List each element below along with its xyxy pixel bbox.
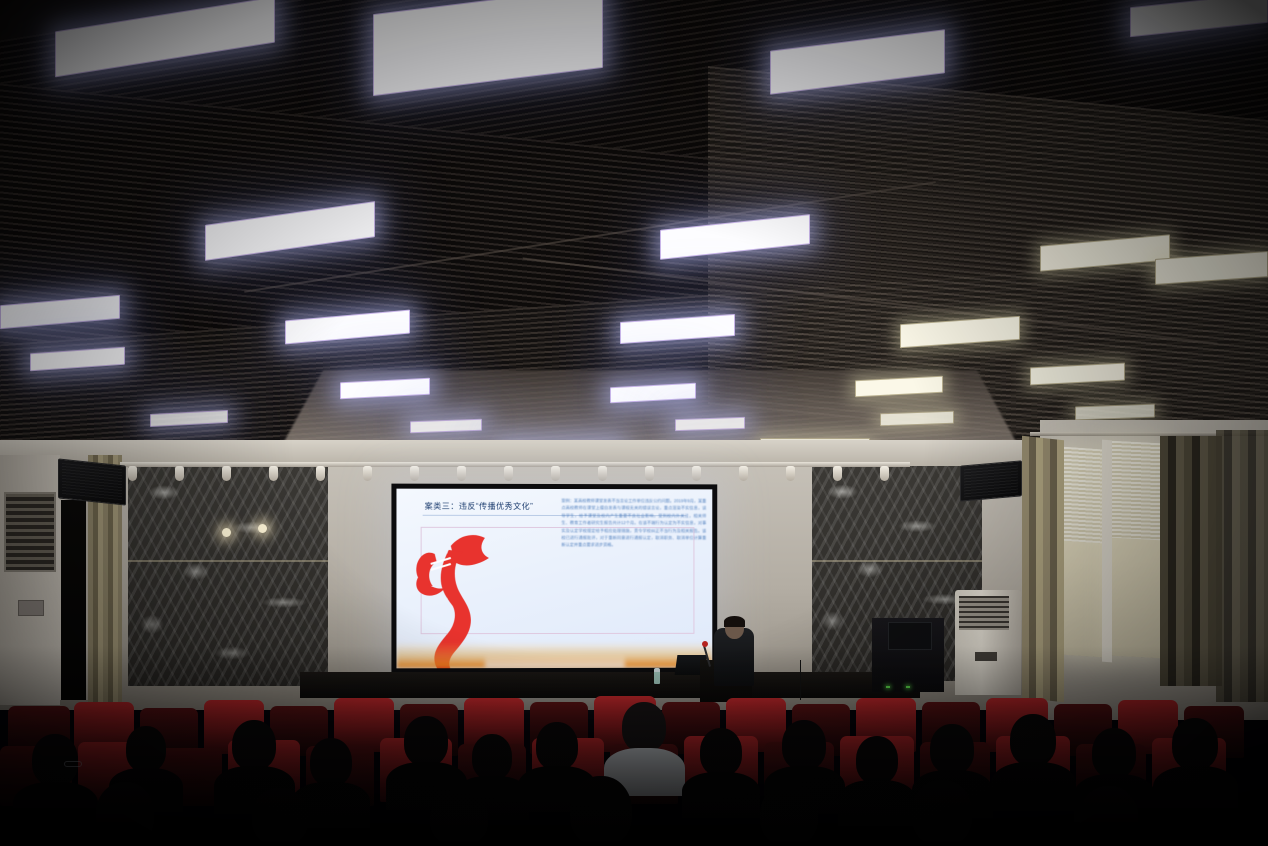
audience-member-head (232, 720, 276, 770)
eyeglasses-icon (64, 761, 82, 767)
curtain-left-panel[interactable] (1022, 436, 1064, 702)
window-pane-2 (1112, 441, 1160, 659)
track-light-16 (833, 466, 842, 481)
audience-member-shoulders (228, 842, 332, 846)
track-light-9 (504, 466, 513, 481)
audience-member-shoulders (1153, 766, 1238, 815)
audience-member-head (856, 736, 898, 784)
track-light-5 (316, 466, 325, 481)
audience-member-shoulders (406, 842, 513, 846)
window-pane-1 (1062, 447, 1102, 658)
side-doorway[interactable] (58, 500, 88, 700)
audience-member-head (700, 728, 742, 776)
projection-screen-frame: 案类三：违反“传播优秀文化” 案例：某高校教师课堂发表不当言论工作单位违反公约问… (391, 484, 717, 679)
track-light-3 (222, 466, 231, 481)
audience-member-head (622, 702, 666, 752)
audience-member-shoulders (887, 842, 998, 846)
ceiling-light-panel-20 (675, 417, 745, 431)
spotlight-glow-left (222, 528, 231, 537)
audience-member-head (472, 734, 512, 780)
audience-member-head (252, 788, 308, 846)
left-marble-panel (128, 466, 328, 686)
track-light-14 (739, 466, 748, 481)
track-light-13 (692, 466, 701, 481)
track-light-7 (410, 466, 419, 481)
projection-screen: 案类三：违反“传播优秀文化” 案例：某高校教师课堂发表不当言论工作单位违反公约问… (396, 489, 712, 669)
audience-member-shoulders (682, 772, 760, 818)
wall-speaker-left (58, 458, 126, 505)
ac-vent-icon (959, 596, 1009, 630)
audience-member-head (536, 722, 578, 770)
track-light-11 (598, 466, 607, 481)
curtain-right-panel[interactable] (1160, 436, 1222, 686)
audience-member-head (570, 776, 632, 846)
audience-member-shoulders (838, 780, 916, 826)
audience-member-head (430, 790, 488, 846)
audience-member-head (1010, 714, 1056, 766)
right-marble-trim (812, 560, 982, 562)
track-light-17 (880, 466, 889, 481)
spotlight-glow-right (258, 524, 267, 533)
audience-member-head (782, 720, 826, 770)
audience-member-head (912, 780, 972, 846)
ac-control-panel[interactable] (975, 652, 997, 661)
window-mullion (1102, 440, 1112, 663)
slide-title: 案类三：违反“传播优秀文化” (425, 501, 534, 512)
audience-member-head (310, 738, 352, 786)
audience-member-head (1080, 786, 1138, 846)
left-marble-trim (128, 560, 328, 562)
audience-member-head (760, 784, 818, 846)
ceiling-light-panel-19 (410, 419, 482, 434)
audience-seating (0, 672, 1268, 846)
window-blind-1[interactable] (1062, 447, 1102, 543)
audience-member-shoulders (544, 842, 659, 846)
ceiling-light-panel-22 (1075, 404, 1155, 421)
presenter-hair (724, 616, 745, 627)
window-blind-2[interactable] (1112, 441, 1160, 540)
wall-switch-plate[interactable] (18, 600, 44, 616)
speaker-grille-left (62, 463, 122, 501)
track-light-1 (128, 466, 137, 481)
slide-body-text: 案例：某高校教师课堂发表不当言论工作单位违反公约问题。2019年9月，某重点高校… (561, 497, 706, 549)
track-light-10 (551, 466, 560, 481)
audience-member-head (404, 716, 448, 766)
ceiling-light-panel-21 (880, 411, 954, 427)
audience-member-shoulders (13, 782, 98, 831)
audience-member-shoulders (736, 842, 843, 846)
audience-member-shoulders (1056, 842, 1163, 846)
audience-member-head (1092, 728, 1136, 778)
wall-vent-grille-icon (4, 492, 56, 572)
audience-member-head (1172, 718, 1218, 770)
ceiling (0, 0, 1268, 470)
track-light-12 (645, 466, 654, 481)
auditorium-scene: 案类三：违反“传播优秀文化” 案例：某高校教师课堂发表不当言论工作单位违反公约问… (0, 0, 1268, 846)
audience-member-head (32, 734, 78, 786)
audience-member-shoulders (72, 842, 179, 846)
speaker-grille-right (964, 465, 1018, 498)
microphone-icon (702, 641, 708, 647)
wall-speaker-right (960, 460, 1022, 501)
av-monitor[interactable] (888, 622, 932, 650)
track-light-15 (786, 466, 795, 481)
track-light-8 (457, 466, 466, 481)
audience-member-shoulders (991, 762, 1076, 811)
track-light-6 (363, 466, 372, 481)
track-light-2 (175, 466, 184, 481)
audience-member-head (930, 724, 974, 774)
curtain-far-right-panel[interactable] (1216, 430, 1268, 702)
audience-member-head (126, 726, 166, 772)
audience-member-head (96, 782, 154, 846)
slide-bottom-highlight (485, 654, 624, 668)
track-light-4 (269, 466, 278, 481)
